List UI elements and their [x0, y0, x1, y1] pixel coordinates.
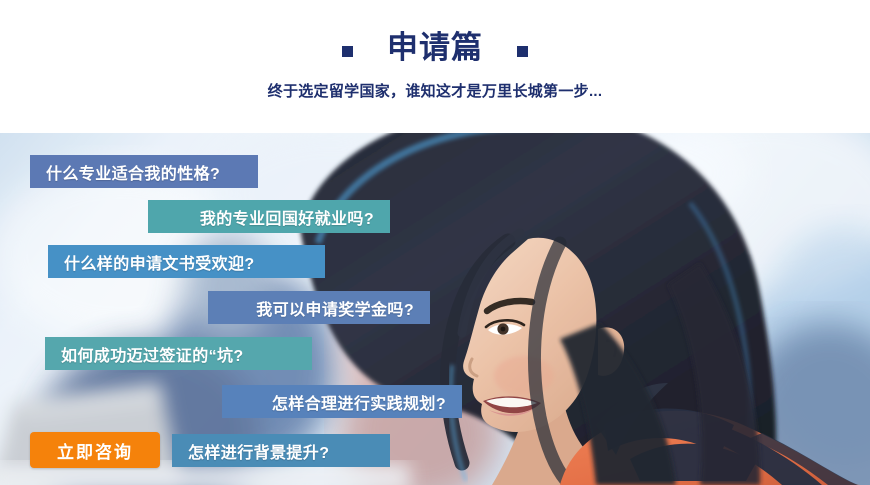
question-bubble-2-label: 我的专业回国好就业吗? — [200, 205, 374, 229]
question-bubble-2[interactable]: 我的专业回国好就业吗? — [148, 200, 390, 233]
question-bubble-1-label: 什么专业适合我的性格? — [46, 160, 220, 184]
question-bubble-1[interactable]: 什么专业适合我的性格? — [30, 155, 258, 188]
question-bubble-4-label: 我可以申请奖学金吗? — [256, 296, 414, 320]
square-bullet-left-icon — [342, 46, 353, 57]
question-bubble-3-label: 什么样的申请文书受欢迎? — [64, 250, 255, 274]
question-bubble-6-label: 怎样合理进行实践规划? — [272, 390, 446, 414]
consult-now-button-label: 立即咨询 — [57, 438, 133, 463]
question-bubble-7-label: 怎样进行背景提升? — [188, 439, 329, 463]
question-bubble-3[interactable]: 什么样的申请文书受欢迎? — [48, 245, 325, 278]
promo-banner: 申请篇 终于选定留学国家，谁知这才是万里长城第一步... — [0, 0, 870, 485]
question-bubble-4[interactable]: 我可以申请奖学金吗? — [208, 291, 430, 324]
question-bubble-6[interactable]: 怎样合理进行实践规划? — [222, 385, 462, 418]
question-bubble-5[interactable]: 如何成功迈过签证的“坑? — [45, 337, 312, 370]
square-bullet-right-icon — [517, 46, 528, 57]
question-bubble-7[interactable]: 怎样进行背景提升? — [172, 434, 390, 467]
page-title: 申请篇 — [387, 29, 483, 67]
page-subtitle: 终于选定留学国家，谁知这才是万里长城第一步... — [0, 80, 870, 101]
consult-now-button[interactable]: 立即咨询 — [30, 432, 160, 468]
title-row: 申请篇 — [0, 29, 870, 67]
banner-header: 申请篇 终于选定留学国家，谁知这才是万里长城第一步... — [0, 0, 870, 133]
question-bubble-5-label: 如何成功迈过签证的“坑? — [61, 342, 244, 366]
